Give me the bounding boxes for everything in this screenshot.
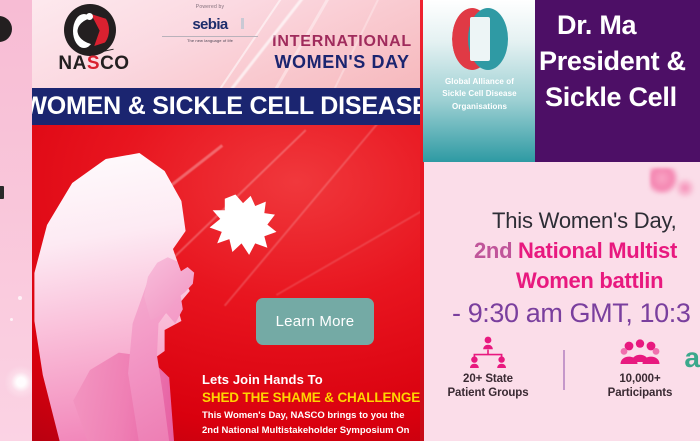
- copy-line-3: This Women's Day, NASCO brings to you th…: [202, 411, 416, 422]
- gascdo-logo-panel: Global Alliance of Sickle Cell Disease O…: [423, 0, 536, 162]
- gascdo-name-line-2: Sickle Cell Disease: [423, 88, 536, 100]
- poster-copy-block: Lets Join Hands To SHED THE SHAME & CHAL…: [202, 373, 416, 437]
- stat-participants-label: 10,000+ Participants: [586, 372, 694, 401]
- peek-sunburst-icon: [4, 365, 32, 399]
- page-title: WOMEN & SICKLE CELL DISEASE: [32, 92, 420, 121]
- light-ray-icon: [276, 194, 420, 296]
- eyebrow-line-2: WOMEN'S DAY: [272, 53, 412, 72]
- flower-decoration-icon: [674, 178, 696, 198]
- nasco-circle-icon: [64, 4, 116, 56]
- peek-speck-icon: [10, 318, 13, 321]
- next-slide-line-1: This Women's Day,: [492, 208, 700, 234]
- speaker-line-3: Sickle Cell: [545, 82, 677, 113]
- stats-row: 20+ State Patient Groups: [420, 336, 700, 436]
- nasco-logo: NASCO: [50, 4, 138, 78]
- nasco-word-s: S: [87, 53, 100, 74]
- current-slide-poster[interactable]: NASCO Powered by sebia The new language …: [32, 0, 420, 441]
- peek-text-fragment: [0, 186, 4, 199]
- sponsor-block: Powered by sebia The new language of lif…: [150, 4, 270, 43]
- sebia-bar-icon: [241, 18, 244, 29]
- gascdo-name-line-1: Global Alliance of: [423, 76, 536, 88]
- sebia-rule-divider: [162, 36, 258, 37]
- stat-participants: 10,000+ Participants: [586, 336, 694, 401]
- nasco-figure-head-icon: [86, 13, 93, 20]
- powered-by-label: Powered by: [150, 4, 270, 10]
- next-slide-line-4: - 9:30 am GMT, 10:3: [452, 298, 700, 329]
- copy-line-2: SHED THE SHAME & CHALLENGE THE PAIN: [202, 390, 416, 406]
- gascdo-logo-icon: [452, 8, 508, 70]
- stat-patient-groups-label: 20+ State Patient Groups: [434, 372, 542, 401]
- copy-line-1: Lets Join Hands To: [202, 373, 416, 388]
- next-slide-line-2-rest: National Multist: [518, 238, 677, 263]
- stat-patient-groups: 20+ State Patient Groups: [434, 336, 542, 401]
- speaker-panel: Dr. Ma President & Sickle Cell: [535, 0, 700, 162]
- sebia-wordmark: sebia: [192, 17, 227, 32]
- speaker-line-1: Dr. Ma: [557, 10, 636, 41]
- learn-more-label: Learn More: [276, 313, 355, 330]
- org-hierarchy-icon: [434, 336, 542, 368]
- next-slide-copy-block: This Women's Day, 2nd National Multist W…: [420, 208, 700, 329]
- people-group-icon: [586, 336, 694, 368]
- next-slide-line-2: 2nd National Multist: [474, 238, 700, 264]
- stat-label-line-1: 20+ State: [434, 372, 542, 386]
- eyebrow-line-1: INTERNATIONAL: [272, 34, 412, 51]
- poster-header: NASCO Powered by sebia The new language …: [32, 0, 420, 88]
- speaker-line-2: President &: [539, 46, 686, 77]
- sebia-tagline: The new language of life: [150, 38, 270, 43]
- copy-line-4: 2nd National Multistakeholder Symposium …: [202, 426, 416, 437]
- previous-slide-peek[interactable]: O: [0, 0, 32, 441]
- next-slide-peek[interactable]: Global Alliance of Sickle Cell Disease O…: [420, 0, 700, 441]
- stat-label-line-2: Patient Groups: [434, 386, 542, 400]
- stats-divider: [563, 350, 565, 390]
- nasco-word-post: CO: [100, 53, 130, 74]
- carousel-slider: O NASCO Powered by s: [0, 0, 700, 441]
- trailing-text-fragment: a: [684, 342, 700, 374]
- next-slide-line-3: Women battlin: [516, 268, 700, 294]
- nasco-word-pre: NA: [58, 53, 86, 74]
- stat-label-line-2: Participants: [586, 386, 694, 400]
- poster-title-banner: WOMEN & SICKLE CELL DISEASE: [32, 88, 420, 125]
- sebia-logo: sebia: [192, 17, 227, 32]
- gascdo-white-center-icon: [470, 17, 490, 61]
- gascdo-name-line-3: Organisations: [423, 101, 536, 113]
- gascdo-organisation-name: Global Alliance of Sickle Cell Disease O…: [423, 76, 536, 113]
- nasco-wordmark: NASCO: [50, 54, 138, 73]
- poster-body: Learn More Lets Join Hands To SHED THE S…: [32, 125, 420, 441]
- peek-speck-icon: [18, 296, 22, 300]
- peek-logo-icon: [0, 16, 12, 42]
- learn-more-button[interactable]: Learn More: [256, 298, 374, 345]
- eyebrow-heading: INTERNATIONAL WOMEN'S DAY: [272, 34, 412, 72]
- next-slide-ordinal: 2nd: [474, 238, 512, 263]
- stat-label-line-1: 10,000+: [586, 372, 694, 386]
